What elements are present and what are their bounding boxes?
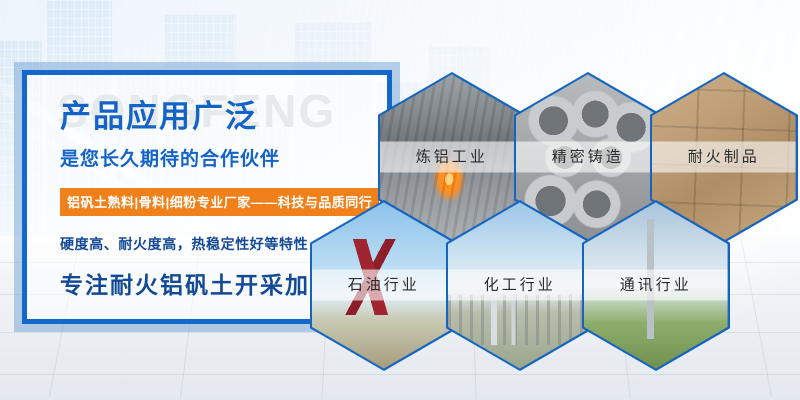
floor-line — [0, 374, 800, 375]
hex-label: 耐火制品 — [652, 142, 796, 173]
page-subtitle: 是您长久期待的合作伙伴 — [60, 144, 380, 171]
hex-label: 精密铸造 — [516, 142, 660, 173]
hex-label: 石油行业 — [312, 270, 456, 301]
hex-label: 通讯行业 — [584, 270, 728, 301]
hex-label: 化工行业 — [448, 270, 592, 301]
page-title: 产品应用广泛 — [60, 100, 380, 135]
banner-stage: SONGFENG 产品应用广泛 是您长久期待的合作伙伴 铝矾土熟料|骨料|细粉专… — [0, 0, 800, 400]
tagline-ribbon: 铝矾土熟料|骨料|细粉专业厂家——科技与品质同行 — [60, 188, 379, 216]
hex-label: 炼铝工业 — [380, 142, 524, 173]
